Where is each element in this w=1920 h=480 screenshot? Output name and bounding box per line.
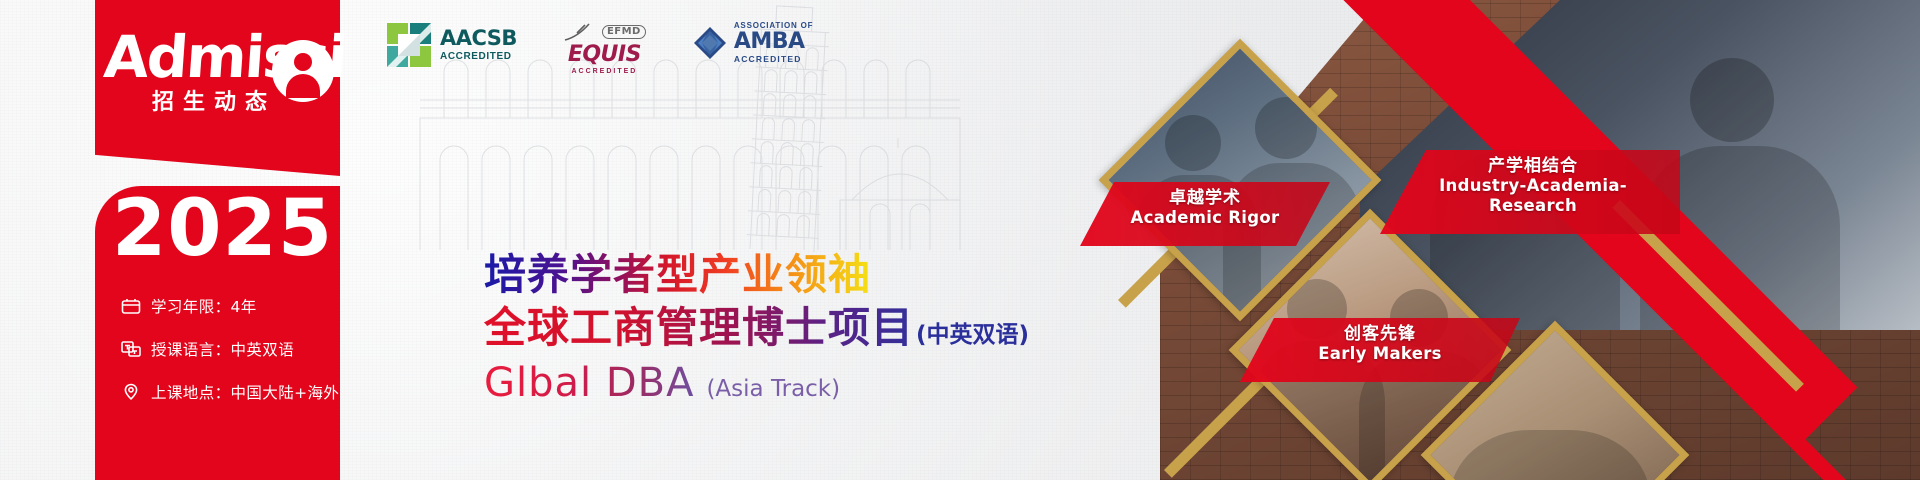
label-industry-academia-en-line1: Industry-Academia- — [1390, 176, 1676, 195]
person-in-circle-icon — [272, 40, 334, 102]
label-early-makers: 创客先锋 Early Makers — [1250, 324, 1510, 364]
aacsb-subtitle: ACCREDITED — [440, 52, 517, 62]
language-icon — [120, 339, 142, 359]
person-body-shape — [286, 74, 320, 98]
equis-accreditation: EFMD EQUIS ACCREDITED — [563, 22, 646, 75]
calendar-icon — [120, 296, 142, 316]
location-pin-icon — [120, 382, 142, 402]
fact-text-duration: 学习年限：4年 — [151, 295, 257, 317]
fact-item-language: 授课语言：中英双语 — [120, 338, 335, 360]
figure-head-d — [1255, 97, 1317, 159]
label-industry-academia: 产学相结合 Industry-Academia- Research — [1390, 156, 1676, 215]
amba-name: AMBA — [734, 30, 814, 53]
amba-accreditation: ASSOCIATION OF AMBA ACCREDITED — [692, 22, 814, 64]
label-academic-rigor: 卓越学术 Academic Rigor — [1090, 188, 1320, 228]
headline-block: 培养学者型产业领袖 全球工商管理博士项目 (中英双语) Glbal DBA (A… — [484, 252, 1029, 405]
headline-program-row: 全球工商管理博士项目 (中英双语) — [484, 305, 1029, 350]
program-facts-list: 学习年限：4年 授课语言：中英双语 — [120, 295, 335, 424]
accreditation-logos: AACSB ACCREDITED EFMD EQUIS ACCREDITED — [386, 22, 813, 75]
equis-top-row: EFMD — [563, 22, 646, 42]
fact-item-location: 上课地点：中国大陆+海外 — [120, 381, 335, 403]
label-academic-rigor-en: Academic Rigor — [1090, 208, 1320, 227]
fact-item-duration: 学习年限：4年 — [120, 295, 335, 317]
label-industry-academia-zh: 产学相结合 — [1390, 156, 1676, 176]
headline-english-title: Glbal DBA — [484, 361, 694, 405]
headline-program-title: 全球工商管理博士项目 — [484, 305, 914, 350]
photo-collage: 卓越学术 Academic Rigor 产学相结合 Industry-Acade… — [1060, 0, 1920, 480]
left-red-panel: Admissi 招生动态 2025 学习年限：4年 — [0, 0, 340, 480]
equis-logo-icon: EFMD EQUIS ACCREDITED — [563, 22, 646, 75]
amba-subtitle: ACCREDITED — [734, 55, 814, 64]
efmd-label: EFMD — [602, 25, 646, 39]
admission-banner: Admissi 招生动态 2025 学习年限：4年 — [0, 0, 1920, 480]
amba-text: ASSOCIATION OF AMBA ACCREDITED — [734, 22, 814, 64]
headline-tagline: 培养学者型产业领袖 — [484, 252, 871, 297]
admission-logo: Admissi 招生动态 — [104, 26, 354, 118]
label-early-makers-en: Early Makers — [1250, 344, 1510, 363]
fact-text-location: 上课地点：中国大陆+海外 — [151, 381, 339, 403]
label-industry-academia-en-line2: Research — [1390, 196, 1676, 215]
logo-chinese-label: 招生动态 — [152, 84, 276, 116]
aacsb-text: AACSB ACCREDITED — [440, 28, 517, 62]
headline-english-row: Glbal DBA (Asia Track) — [484, 361, 1029, 405]
fact-text-language: 授课语言：中英双语 — [151, 338, 294, 360]
amba-logo-icon — [692, 25, 728, 61]
equis-name: EQUIS — [568, 44, 641, 66]
aacsb-name: AACSB — [440, 28, 517, 49]
headline-program-paren: (中英双语) — [916, 315, 1029, 349]
person-head-shape — [294, 53, 312, 71]
aacsb-accreditation: AACSB ACCREDITED — [386, 22, 517, 68]
year-label: 2025 — [112, 190, 332, 268]
red-diagonal-ribbon — [1320, 0, 1920, 150]
headline-english-paren: (Asia Track) — [706, 376, 840, 402]
label-academic-rigor-zh: 卓越学术 — [1090, 188, 1320, 208]
figure-head-c — [1165, 115, 1221, 171]
aacsb-logo-icon — [386, 22, 432, 68]
equis-subtitle: ACCREDITED — [571, 68, 637, 75]
label-early-makers-zh: 创客先锋 — [1250, 324, 1510, 344]
